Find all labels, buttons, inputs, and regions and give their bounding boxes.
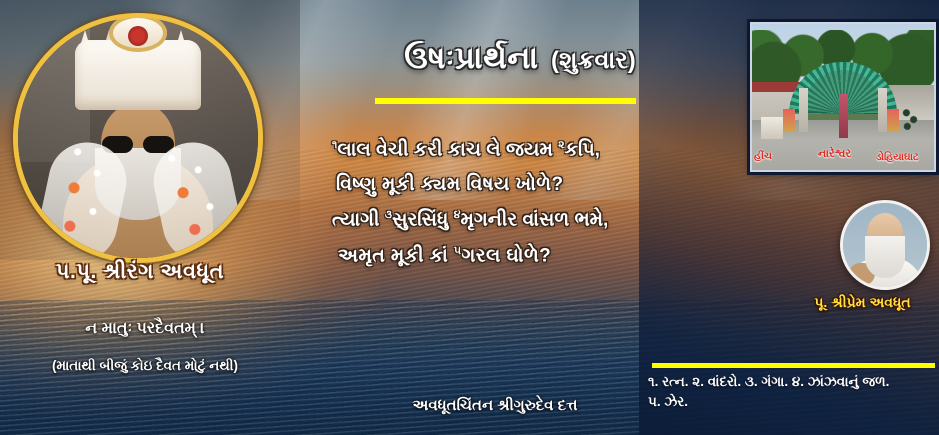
temple-pillar-right [878,88,887,132]
sanskrit-quote-translation: (માતાથી બીજું કોઇ દૈવત મોટું નથી) [0,358,290,374]
verse-block: ૧લાલ વેચી કરી કાચ લે જયમ ૨કપિ, વિષ્ણુ મૂ… [332,140,722,281]
temple-center-pole [839,94,848,138]
temple-poster-left [783,109,795,131]
verse-line-1: ૧લાલ વેચી કરી કાચ લે જયમ ૨કપિ, [332,140,722,159]
verse-line-1-text-b: કપિ, [565,139,600,160]
portrait-name-small: પૂ. શ્રીપ્રેમ અવધૂત [790,294,935,311]
verse-line-1-text-a: લાલ વેચી કરી કાચ લે જયમ [337,139,558,160]
verse-line-2: વિષ્ણુ મૂકી ક્યમ વિષય ખોળે? [332,175,722,194]
page-title-weekday: (શુક્રવાર) [551,47,636,75]
photo-label-hinch: હીંચ [754,151,772,162]
footer-mantra: અવધૂતચિંતન શ્રીગુરુદેવ દત્ત [330,397,660,414]
photo-label-nareshwar: નારેશ્વર [818,148,851,161]
sunglasses-icon [102,136,174,153]
temple-box [761,117,783,139]
verse-line-3-text-a: ત્યાગી [332,210,385,231]
avatar-shri-rang-avadhoot [13,13,263,263]
photo-label-dohiyaghat: ડોહિયાઘાટ [876,152,919,163]
verse-line-4-text-b: ગરલ ઘોળે? [461,245,551,266]
verse-line-3-text-c: મૃગનીર વાંસળ ભમે, [460,210,608,231]
small-portrait-beard [865,236,905,278]
page-title-main: ઉષઃપ્રાર્થના [404,40,538,77]
temple-plant-icon [901,106,919,140]
footnote-line-2: ૫. ઝેર. [648,392,939,412]
temple-pillar-left [799,88,808,132]
footnote-line-1: ૧. રત્ન. ૨. વાંદરો. ૩. ગંગા. ૪. ઝાંઝવાનુ… [648,372,939,392]
prayer-poster: પ.પૂ. શ્રીરંગ અવધૂત ન માતુઃ પરદૈવતમ્ । (… [0,0,939,435]
verse-superscript-3: ૩ [385,209,392,221]
verse-line-3: ત્યાગી ૩સુરસિંધુ ૪મૃગનીર વાંસળ ભમે, [332,210,722,229]
verse-line-4-text-a: અમૃત મૂકી કાં [338,245,454,266]
footnote-block: ૧. રત્ન. ૨. વાંદરો. ૩. ગંગા. ૪. ઝાંઝવાનુ… [648,372,939,411]
title-underline [375,98,636,104]
footnote-divider [652,363,935,368]
verse-line-4: અમૃત મૂકી કાં ૫ગરલ ઘોળે? [332,246,722,265]
sanskrit-quote: ન માતુઃ પરદૈવતમ્ । [0,320,290,338]
avatar-shri-prem-avadhoot [840,200,930,290]
crown-icon [75,40,201,110]
verse-line-3-text-b: સુરસિંધુ [392,210,454,231]
portrait-name-main: પ.પૂ. શ્રીરંગ અવધૂત [0,260,280,284]
page-title: ઉષઃપ્રાર્થના (શુક્રવાર) [330,40,710,77]
temple-poster-right [887,109,899,131]
